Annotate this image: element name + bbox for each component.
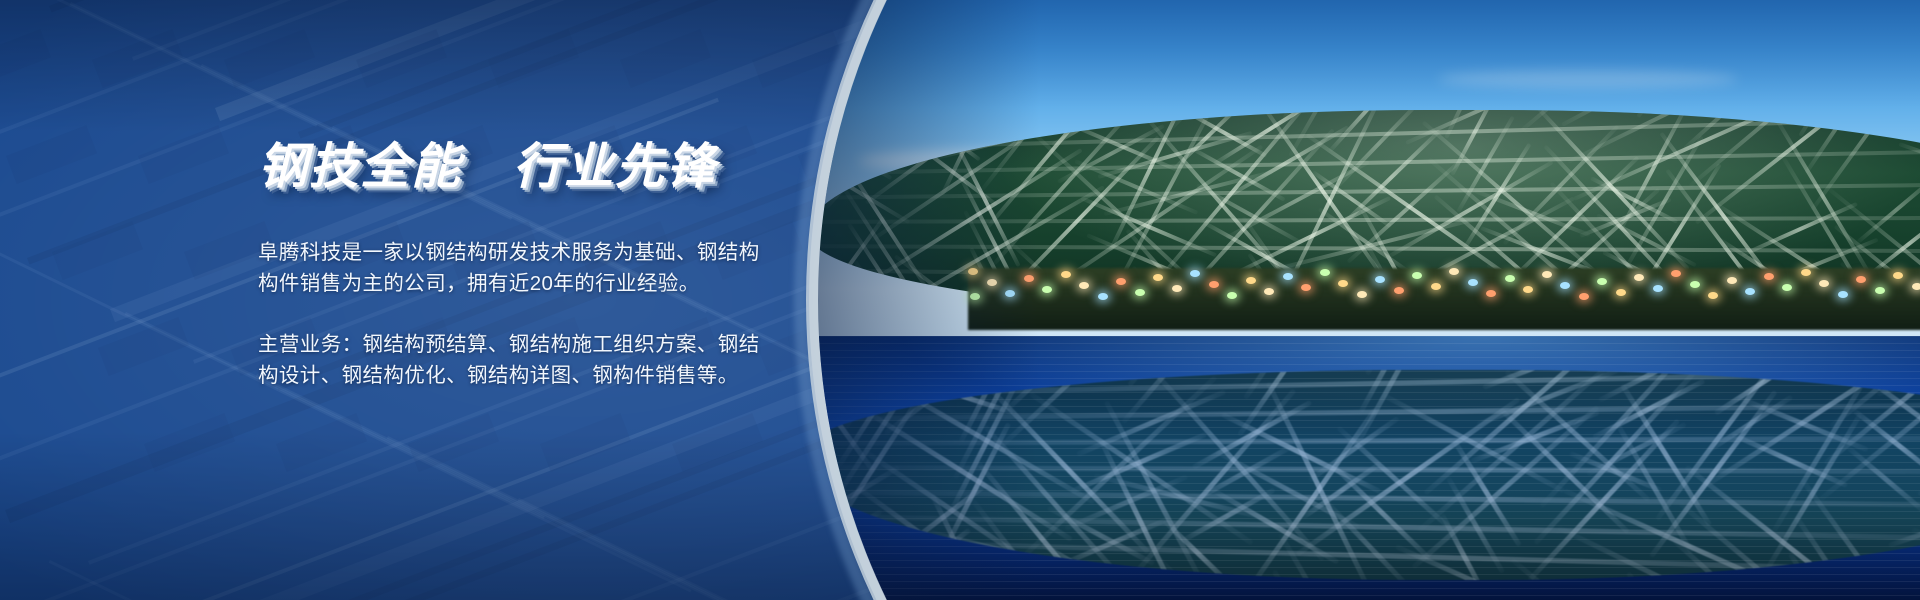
stadium-photo [818, 0, 1920, 600]
copy-block: 钢技全能 行业先锋 阜腾科技是一家以钢结构研发技术服务为基础、钢结构构件销售为主… [258, 140, 778, 391]
photo-shading [818, 0, 1920, 600]
services-paragraph: 主营业务：钢结构预结算、钢结构施工组织方案、钢结构设计、钢结构优化、钢结构详图、… [258, 329, 778, 391]
hero-banner: 钢技全能 行业先锋 阜腾科技是一家以钢结构研发技术服务为基础、钢结构构件销售为主… [0, 0, 1920, 600]
headline: 钢技全能 行业先锋 [258, 140, 778, 195]
stadium-photo-disc [818, 0, 1920, 600]
intro-paragraph: 阜腾科技是一家以钢结构研发技术服务为基础、钢结构构件销售为主的公司，拥有近20年… [258, 237, 778, 299]
